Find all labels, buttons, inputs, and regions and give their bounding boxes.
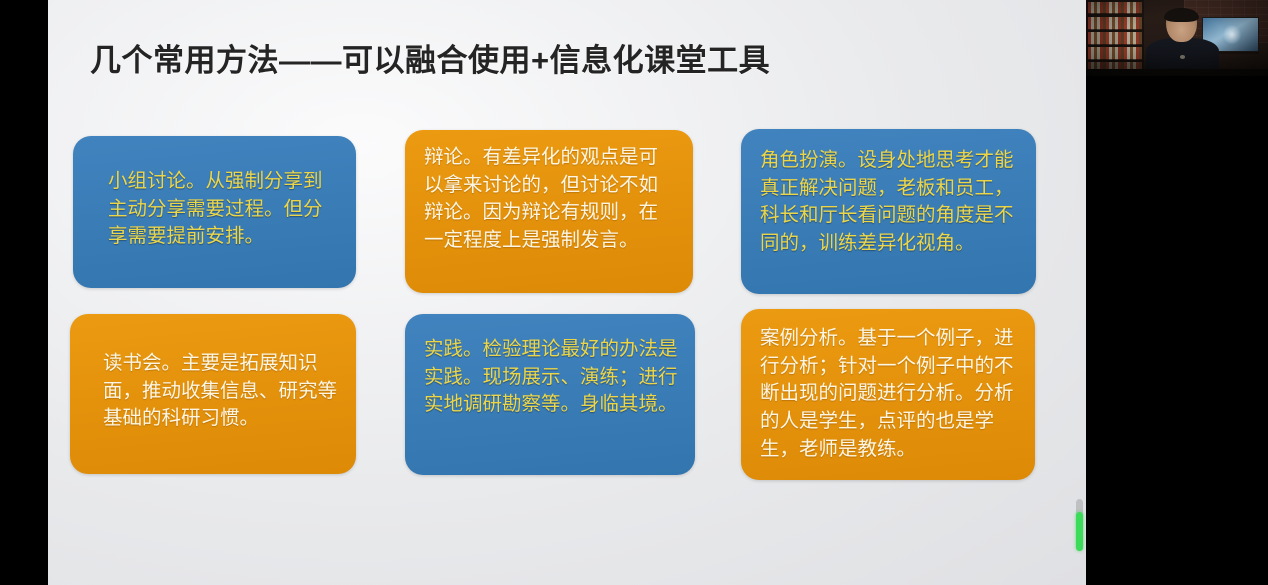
scrollbar-thumb[interactable] xyxy=(1076,512,1083,551)
method-card-case-analysis[interactable]: 案例分析。基于一个例子，进行分析；针对一个例子中的不断出现的问题进行分析。分析的… xyxy=(741,309,1035,480)
method-card-group-discussion[interactable]: 小组讨论。从强制分享到主动分享需要过程。但分享需要提前安排。 xyxy=(73,136,356,288)
method-card-text: 辩论。有差异化的观点是可以拿来讨论的，但讨论不如辩论。因为辩论有规则，在一定程度… xyxy=(424,144,676,255)
scrollbar-track[interactable] xyxy=(1076,499,1083,551)
presentation-slide[interactable]: 几个常用方法——可以融合使用+信息化课堂工具 小组讨论。从强制分享到主动分享需要… xyxy=(48,0,1086,585)
video-vignette xyxy=(1086,0,1268,76)
method-card-text: 案例分析。基于一个例子，进行分析；针对一个例子中的不断出现的问题进行分析。分析的… xyxy=(760,323,1018,463)
method-card-debate[interactable]: 辩论。有差异化的观点是可以拿来讨论的，但讨论不如辩论。因为辩论有规则，在一定程度… xyxy=(405,130,693,293)
method-card-grid: 小组讨论。从强制分享到主动分享需要过程。但分享需要提前安排。 辩论。有差异化的观… xyxy=(48,0,1086,585)
presenter-video-feed[interactable] xyxy=(1086,0,1268,76)
method-card-book-club[interactable]: 读书会。主要是拓展知识面，推动收集信息、研究等基础的科研习惯。 xyxy=(70,314,356,474)
method-card-practice[interactable]: 实践。检验理论最好的办法是实践。现场展示、演练；进行实地调研勘察等。身临其境。 xyxy=(405,314,695,475)
method-card-text: 小组讨论。从强制分享到主动分享需要过程。但分享需要提前安排。 xyxy=(92,150,339,251)
method-card-text: 实践。检验理论最好的办法是实践。现场展示、演练；进行实地调研勘察等。身临其境。 xyxy=(424,328,678,419)
method-card-text: 角色扮演。设身处地思考才能真正解决问题，老板和员工，科长和厅长看问题的角度是不同… xyxy=(760,143,1019,258)
method-card-role-play[interactable]: 角色扮演。设身处地思考才能真正解决问题，老板和员工，科长和厅长看问题的角度是不同… xyxy=(741,129,1036,294)
method-card-text: 读书会。主要是拓展知识面，推动收集信息、研究等基础的科研习惯。 xyxy=(89,328,339,433)
screen-capture: 几个常用方法——可以融合使用+信息化课堂工具 小组讨论。从强制分享到主动分享需要… xyxy=(0,0,1268,585)
